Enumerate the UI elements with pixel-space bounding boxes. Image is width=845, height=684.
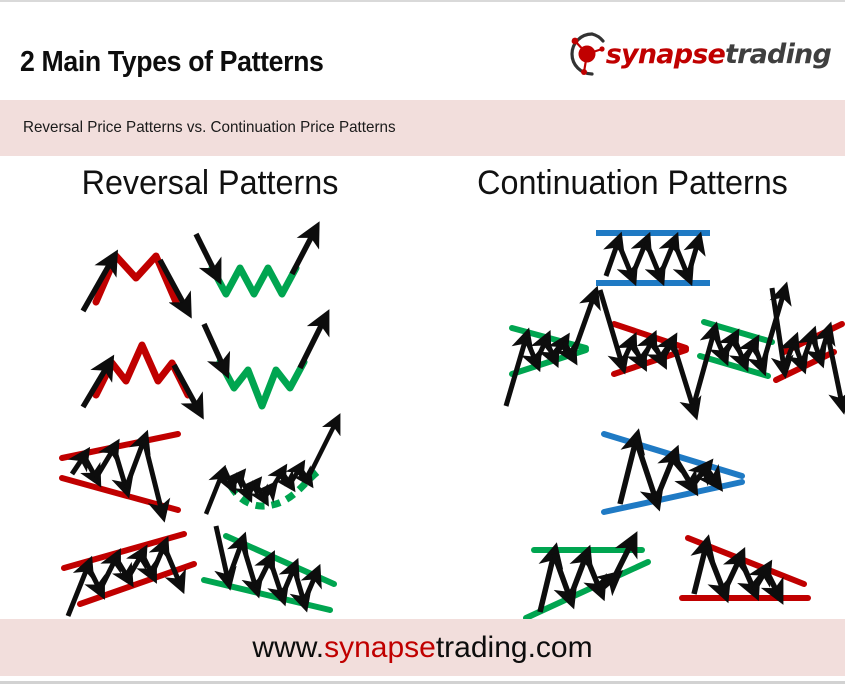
pattern-rising-wedge [58, 528, 208, 623]
pattern-double-top [78, 226, 208, 311]
pattern-inverse-head-and-shoulders [196, 316, 336, 411]
logo-wordmark: synapsetrading [606, 39, 831, 70]
logo-word-primary: synapse [606, 39, 725, 70]
slide-body: Reversal Patterns Continuation Patterns [0, 156, 845, 619]
synapse-node-icon [562, 29, 612, 79]
footer-band: www.synapsetrading.com [0, 619, 845, 676]
footer-url-brand: synapse [324, 631, 436, 664]
triple-bottom-outline [212, 268, 296, 294]
column-heading-continuation: Continuation Patterns [431, 164, 835, 203]
pattern-rounding-bottom [200, 418, 350, 523]
pattern-rectangle [592, 228, 717, 290]
subtitle-text: Reversal Price Patterns vs. Continuation… [23, 119, 396, 137]
pattern-descending-triangle [678, 528, 818, 618]
inverse-head-shoulders-outline [220, 362, 304, 406]
subtitle-band: Reversal Price Patterns vs. Continuation… [0, 100, 845, 156]
page-title: 2 Main Types of Patterns [20, 46, 323, 79]
pattern-falling-wedge [198, 522, 348, 627]
column-heading-reversal: Reversal Patterns [11, 164, 410, 203]
pattern-symmetrical-triangle [598, 424, 763, 522]
pattern-ascending-triangle [520, 534, 655, 624]
synapse-trading-logo: synapsetrading [595, 28, 831, 80]
slide-header: 2 Main Types of Patterns synapsetrading [0, 2, 845, 100]
footer-url-prefix: www. [252, 631, 324, 664]
slide-canvas: 2 Main Types of Patterns synapsetrading [0, 0, 845, 684]
broadening-upper-trendline [62, 434, 178, 458]
symmetrical-upper-trendline [604, 434, 742, 476]
pattern-triple-bottom [190, 232, 325, 317]
footer-website-url: www.synapsetrading.com [0, 631, 845, 665]
logo-word-secondary: trading [725, 39, 831, 70]
pattern-broadening-wedge [58, 426, 198, 526]
footer-url-suffix: trading.com [436, 631, 593, 664]
pattern-bearish-flag [770, 284, 845, 416]
